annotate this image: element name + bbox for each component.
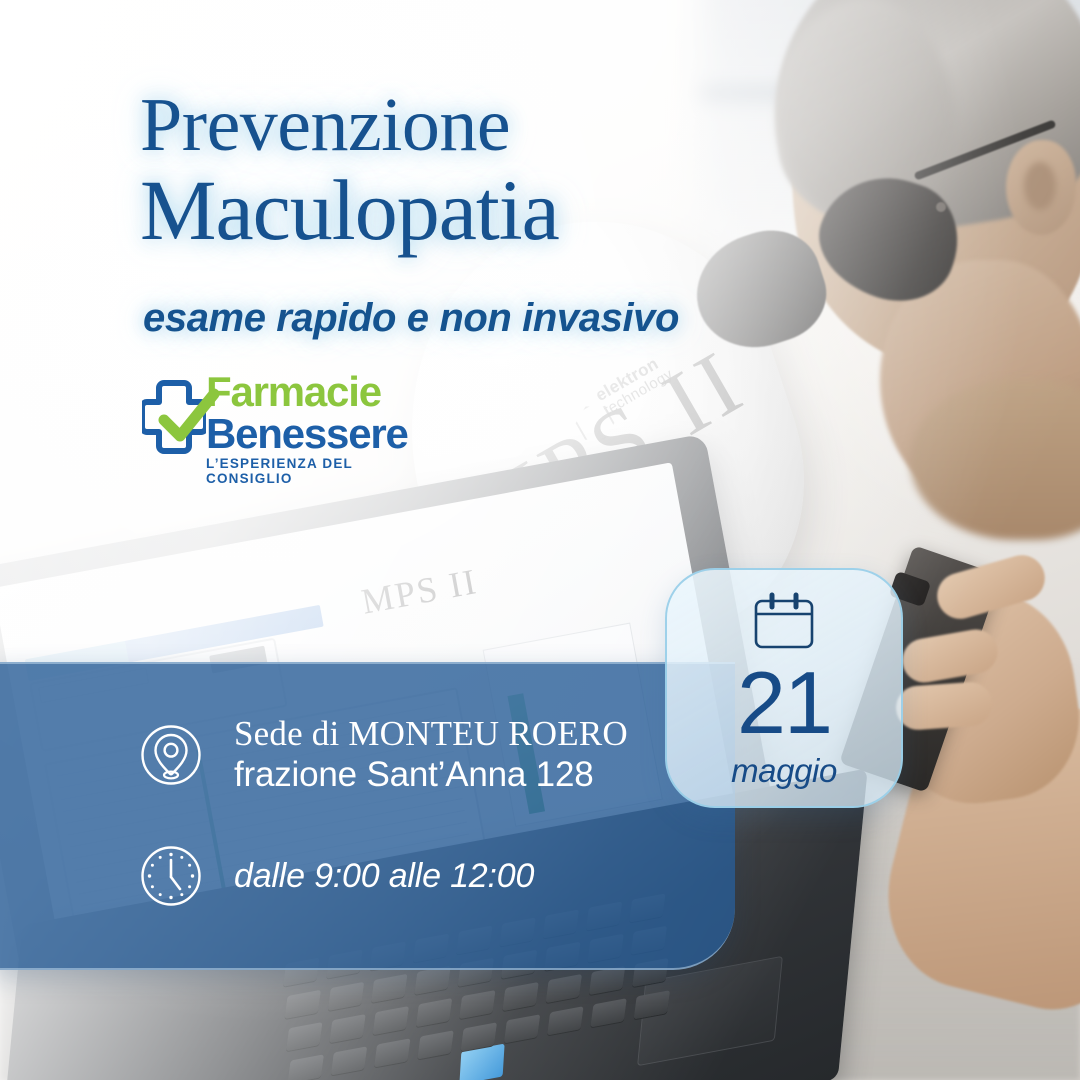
title-line-2: Maculopatia (140, 168, 780, 252)
time-value: dalle 9:00 alle 12:00 (234, 857, 534, 896)
location-line-2: frazione Sant’Anna 128 (234, 755, 628, 796)
date-badge: 21 maggio (665, 568, 903, 808)
time-row: dalle 9:00 alle 12:00 (140, 845, 534, 907)
brand-logo: Farmacie Benessere L’ESPERIENZA DEL CONS… (142, 372, 442, 472)
location-row: Sede di MONTEU ROERO frazione Sant’Anna … (140, 714, 628, 795)
subtitle: esame rapido e non invasivo (143, 296, 679, 341)
clock-icon (140, 845, 202, 907)
location-text: Sede di MONTEU ROERO frazione Sant’Anna … (234, 714, 628, 795)
logo-name-top: Farmacie (206, 372, 442, 412)
info-band (0, 662, 735, 970)
location-line-1: Sede di MONTEU ROERO (234, 714, 628, 755)
logo-tagline: L’ESPERIENZA DEL CONSIGLIO (206, 456, 442, 486)
poster-content: Prevenzione Maculopatia esame rapido e n… (0, 0, 1080, 1080)
logo-text: Farmacie Benessere L’ESPERIENZA DEL CONS… (206, 372, 442, 486)
logo-name-bottom: Benessere (206, 413, 442, 454)
calendar-icon (751, 592, 817, 652)
location-pin-icon (140, 724, 202, 786)
time-text: dalle 9:00 alle 12:00 (234, 857, 534, 896)
date-day: 21 (667, 663, 901, 742)
page-title: Prevenzione Maculopatia (140, 88, 780, 253)
title-line-1: Prevenzione (140, 88, 780, 162)
poster: elektron technology MPS II MPS II (0, 0, 1080, 1080)
date-month: maggio (667, 752, 901, 790)
